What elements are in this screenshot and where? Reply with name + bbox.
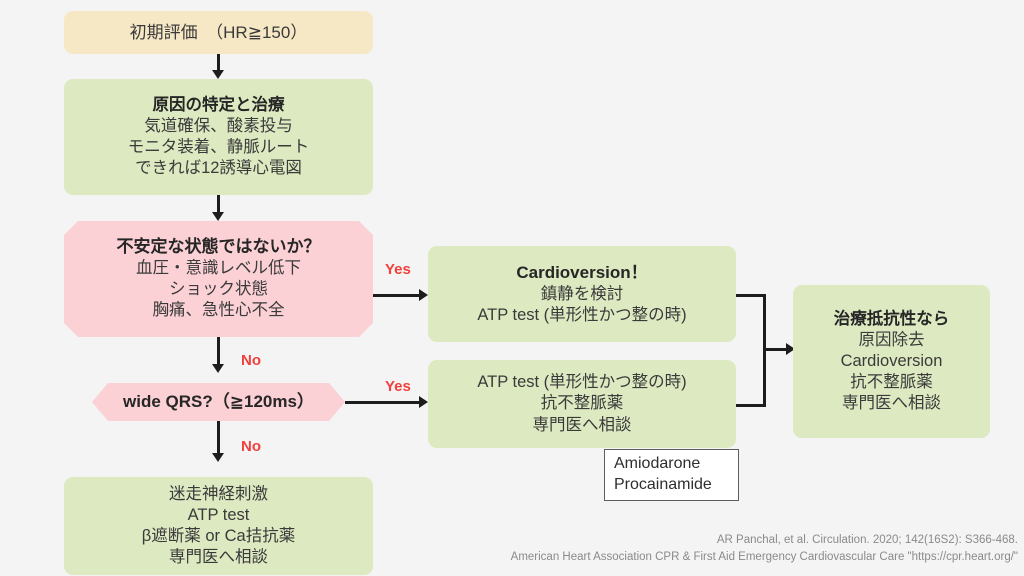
edge-label-yes-unstable: Yes bbox=[385, 261, 411, 278]
node-unstable-decision-line-3: ショック状態 bbox=[169, 279, 268, 300]
node-refractory-line-1: 治療抵抗性なら bbox=[834, 309, 950, 330]
node-wide-qrs-decision-line-1: wide QRS?（≧120ms） bbox=[123, 391, 314, 413]
callout-antiarrhythmic-drugs: Amiodarone Procainamide bbox=[604, 449, 739, 501]
connector-wideqrs-to-atp bbox=[345, 401, 421, 404]
node-identify-and-treat-line-2: 気道確保、酸素投与 bbox=[144, 116, 293, 137]
node-identify-and-treat-line-3: モニタ装着、静脈ルート bbox=[128, 137, 310, 158]
node-refractory-line-3: Cardioversion bbox=[841, 351, 943, 372]
node-refractory-line-4: 抗不整脈薬 bbox=[850, 372, 933, 393]
node-unstable-decision-line-2: 血圧・意識レベル低下 bbox=[136, 258, 301, 279]
node-initial-assessment: 初期評価 （HR≧150） bbox=[64, 11, 373, 54]
arrowhead-wideqrs-to-atp bbox=[419, 396, 428, 408]
connector-wideqrs-to-vagal bbox=[217, 421, 220, 456]
connector-unstable-to-cardioversion bbox=[373, 294, 421, 297]
flowchart-canvas: 初期評価 （HR≧150） 原因の特定と治療 気道確保、酸素投与 モニタ装着、静… bbox=[0, 0, 1024, 576]
node-vagal-branch-line-1: 迷走神経刺激 bbox=[169, 484, 268, 505]
node-vagal-branch-line-2: ATP test bbox=[188, 505, 250, 526]
arrowhead-unstable-to-wideqrs bbox=[212, 364, 224, 373]
node-refractory-line-5: 専門医へ相談 bbox=[842, 393, 941, 414]
node-vagal-branch: 迷走神経刺激 ATP test β遮断薬 or Ca拮抗薬 専門医へ相談 bbox=[64, 477, 373, 575]
arrowhead-initial-to-identify bbox=[212, 70, 224, 79]
arrowhead-unstable-to-cardioversion bbox=[419, 289, 428, 301]
node-vagal-branch-line-3: β遮断薬 or Ca拮抗薬 bbox=[142, 526, 295, 547]
callout-drug-line-2: Procainamide bbox=[614, 475, 729, 496]
citation-line-1: AR Panchal, et al. Circulation. 2020; 14… bbox=[511, 532, 1018, 549]
node-identify-and-treat-line-4: できれば12誘導心電図 bbox=[135, 158, 302, 179]
node-initial-assessment-line-1: 初期評価 （HR≧150） bbox=[130, 22, 308, 44]
node-cardioversion-line-3: ATP test (単形性かつ整の時) bbox=[477, 305, 686, 326]
edge-label-no-unstable: No bbox=[241, 352, 261, 369]
node-atp-test-branch-line-2: 抗不整脈薬 bbox=[541, 393, 624, 414]
node-atp-test-branch-line-1: ATP test (単形性かつ整の時) bbox=[477, 372, 686, 393]
node-atp-test-branch: ATP test (単形性かつ整の時) 抗不整脈薬 専門医へ相談 bbox=[428, 360, 736, 448]
node-unstable-decision-line-1: 不安定な状態ではないか？ bbox=[117, 236, 321, 258]
node-unstable-decision-line-4: 胸痛、急性心不全 bbox=[153, 300, 285, 321]
node-refractory-line-2: 原因除去 bbox=[859, 330, 925, 351]
citation-block: AR Panchal, et al. Circulation. 2020; 14… bbox=[511, 532, 1018, 565]
node-vagal-branch-line-4: 専門医へ相談 bbox=[169, 547, 268, 568]
node-cardioversion-line-2: 鎮静を検討 bbox=[541, 284, 624, 305]
connector-merge-to-refractory bbox=[763, 348, 788, 351]
citation-line-2: American Heart Association CPR & First A… bbox=[511, 549, 1018, 566]
node-wide-qrs-decision: wide QRS?（≧120ms） bbox=[92, 383, 345, 421]
node-atp-test-branch-line-3: 専門医へ相談 bbox=[533, 415, 632, 436]
node-cardioversion-line-1: Cardioversion！ bbox=[516, 262, 647, 284]
node-cardioversion: Cardioversion！ 鎮静を検討 ATP test (単形性かつ整の時) bbox=[428, 246, 736, 342]
callout-drug-line-1: Amiodarone bbox=[614, 454, 729, 475]
connector-atp-merge-bottom bbox=[736, 404, 766, 407]
connector-cardioversion-merge-top bbox=[736, 294, 766, 297]
arrowhead-identify-to-unstable bbox=[212, 212, 224, 221]
edge-label-yes-wide-qrs: Yes bbox=[385, 378, 411, 395]
node-identify-and-treat-line-1: 原因の特定と治療 bbox=[153, 95, 285, 116]
node-unstable-decision: 不安定な状態ではないか？ 血圧・意識レベル低下 ショック状態 胸痛、急性心不全 bbox=[64, 221, 373, 337]
arrowhead-wideqrs-to-vagal bbox=[212, 453, 224, 462]
connector-unstable-to-wideqrs bbox=[217, 337, 220, 367]
node-identify-and-treat: 原因の特定と治療 気道確保、酸素投与 モニタ装着、静脈ルート できれば12誘導心… bbox=[64, 79, 373, 195]
edge-label-no-wide-qrs: No bbox=[241, 438, 261, 455]
node-refractory: 治療抵抗性なら 原因除去 Cardioversion 抗不整脈薬 専門医へ相談 bbox=[793, 285, 990, 438]
